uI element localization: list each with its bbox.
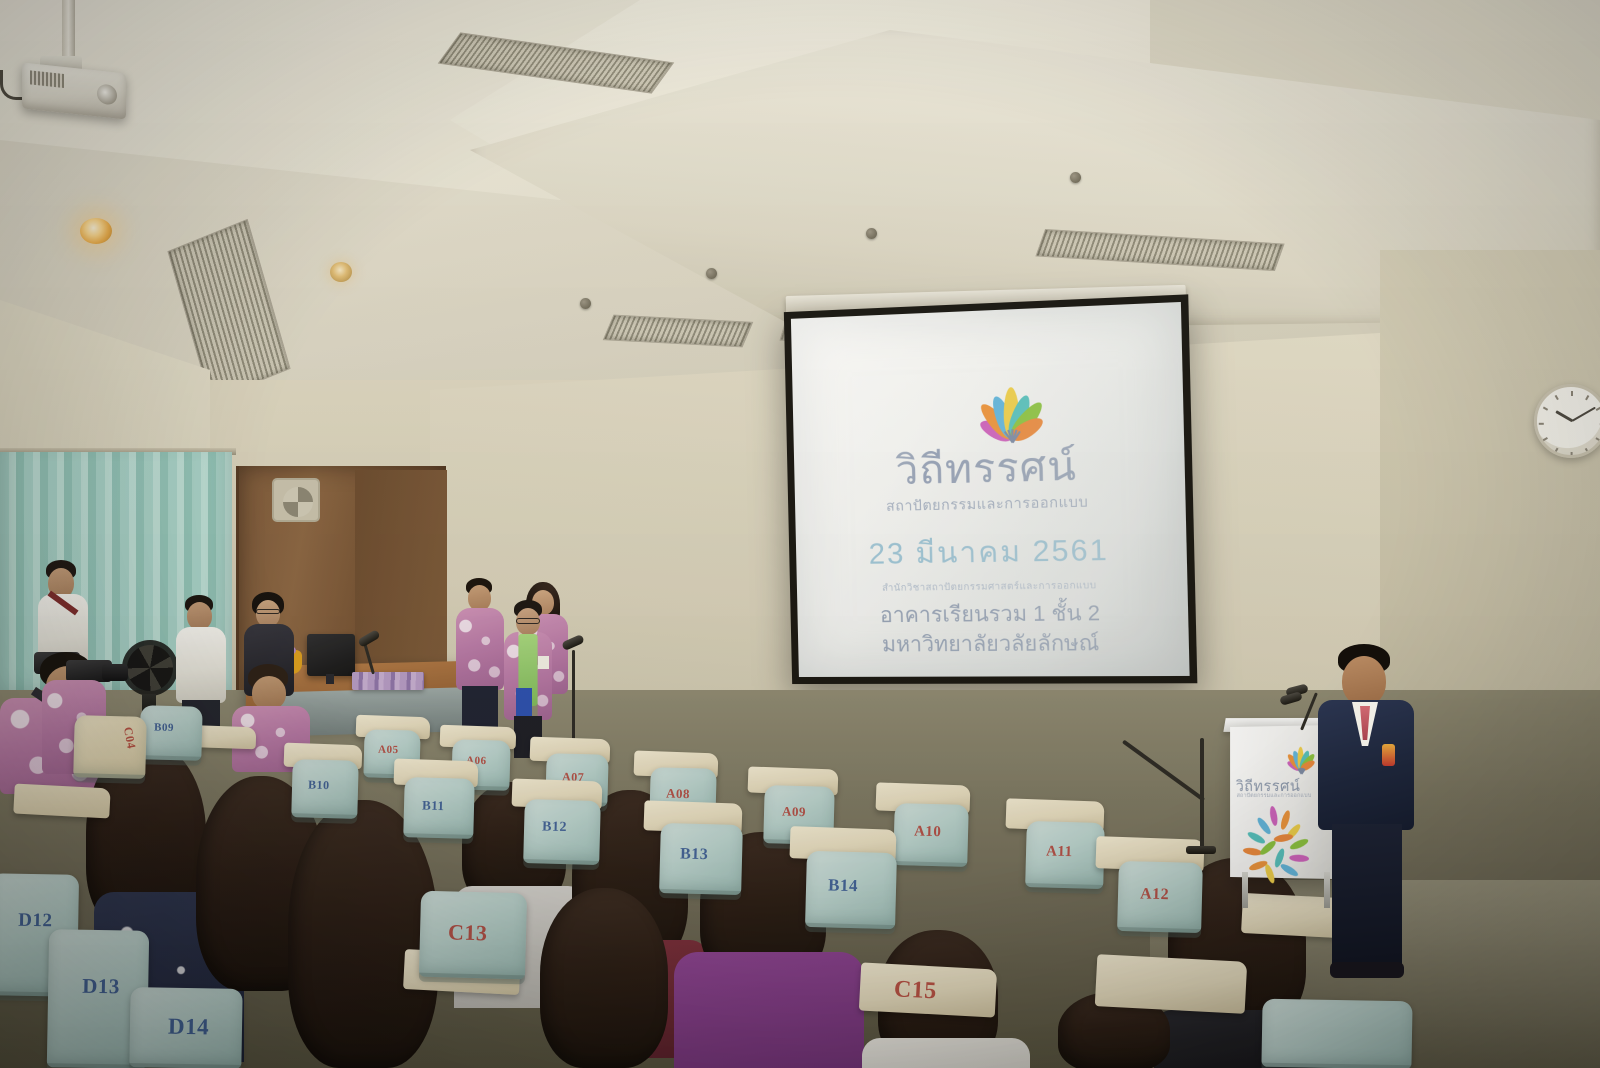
trousers [1332,824,1402,970]
head [187,602,212,630]
wrapped-gift-stack [352,672,424,690]
seat-label: D13 [82,974,120,1000]
ceiling-fixture-dot-3 [580,298,591,309]
seat-label: A09 [782,804,806,821]
head [1342,656,1386,706]
seat-label: C04 [120,726,139,751]
wall-clock [1534,384,1600,458]
slide-venue-university: มหาวิทยาลัยวลัยลักษณ์ [882,630,1100,661]
eyeglasses [256,609,280,614]
clock-tick [1585,395,1589,400]
seat-label: B12 [542,819,567,836]
seat-label: B11 [422,798,445,815]
seat-label: D12 [18,910,53,933]
clock-tick [1543,407,1548,411]
clock-hour-hand [1555,410,1573,422]
seat-label: A05 [378,744,399,757]
clock-tick [1596,437,1600,441]
torso [456,608,504,690]
seat-D14[interactable]: D14 [129,987,242,1068]
decoration-petal [1289,854,1309,862]
petal-fan-logo [949,360,1073,444]
seat-A11[interactable]: A11 [1025,821,1105,889]
seat-label: C15 [893,976,937,1005]
seat-B12[interactable]: B12 [523,799,601,865]
ceiling-fixture-dot-5 [866,228,877,239]
clock-tick [1543,437,1548,441]
hair [540,888,668,1068]
boom-microphone-arm [1200,738,1204,850]
pedestal-fan [122,640,178,696]
podium-leg-left [1242,872,1248,908]
head [252,676,286,710]
seat-A12[interactable]: A12 [1117,861,1203,933]
projector-vent-grille [30,70,64,88]
slide-brand-title: วิถีทรรศน์ [895,445,1077,493]
clock-tick [1555,448,1559,453]
seat-B14[interactable]: B14 [805,851,897,929]
tablet-desk: C15 [859,962,997,1017]
decoration-petal [1289,837,1310,851]
decoration-petal [1246,830,1266,846]
seat-C04[interactable]: C04 [73,715,147,779]
seat-B11[interactable]: B11 [403,777,475,839]
seat-label: D14 [168,1014,210,1041]
decoration-petal [1279,809,1292,830]
clock-minute-hand [1572,407,1596,422]
torso [862,1038,1030,1068]
slide-event-date: 23 มีนาคม 2561 [868,526,1109,577]
slide-venue-building: อาคารเรียนรวม 1 ชั้น 2 [880,600,1101,632]
clock-tick [1571,452,1573,457]
microphone-base [1186,846,1216,854]
slide-brand-subtitle: สถาปัตยกรรมและการออกแบบ [886,491,1089,518]
decoration-petal [1273,833,1293,843]
seat-A10[interactable]: A10 [893,803,969,867]
seat-B13[interactable]: B13 [659,823,743,895]
ceiling-fixture-dot-4 [706,268,717,279]
lecture-hall-photo: วิถีทรรศน์ สถาปัตยกรรมและการออกแบบ 23 มี… [0,0,1600,1068]
seat-label: A08 [666,786,690,803]
lapel-pin [1382,744,1395,766]
projected-slide: วิถีทรรศน์ สถาปัตยกรรมและการออกแบบ 23 มี… [791,302,1190,677]
logo-stem [1012,442,1013,443]
seat-label: A12 [1140,885,1170,904]
seat-label: B14 [828,875,858,896]
slide-organizer-line: สำนักวิชาสถาปัตยกรรมศาสตร์และการออกแบบ [882,578,1097,596]
seat-B10[interactable]: B10 [291,759,358,819]
petal-scatter-decoration [1242,804,1316,869]
monitor-stand [326,674,334,684]
tablet-desk [13,784,110,819]
seat-B09[interactable]: B09 [139,705,202,761]
decoration-petal [1279,862,1299,878]
seat-C13[interactable]: C13 [419,891,527,980]
podium-leg-right [1324,872,1330,908]
desk-monitor [307,634,355,676]
clock-tick [1555,395,1559,400]
clock-tick [1571,391,1573,396]
decoration-petal [1269,806,1279,827]
seat-label: B10 [308,778,330,794]
shoes [1330,962,1404,978]
clock-tick [1585,448,1589,453]
seat-label: C13 [448,919,488,946]
seat-label: A11 [1046,844,1073,862]
tablet-desk [1095,954,1248,1014]
torso [674,952,864,1068]
wall-exhaust-fan [272,478,320,522]
clock-tick [1596,407,1600,411]
projector-lens [97,83,117,105]
seat-label: B09 [154,722,174,735]
pull-down-projection-screen[interactable]: วิถีทรรศน์ สถาปัตยกรรมและการออกแบบ 23 มี… [784,294,1198,684]
clock-tick [1539,423,1544,425]
name-badge [538,656,549,669]
seat-label: B13 [680,845,709,864]
torso [176,627,226,703]
seat-foreground-right[interactable] [1261,999,1412,1068]
ceiling-downlight-1 [80,218,112,244]
eyeglasses [516,618,540,624]
ceiling-downlight-2 [330,262,352,282]
ceiling-fixture-dot-6 [1070,172,1081,183]
camera-lens [102,664,128,681]
seat-label: A10 [914,824,942,842]
